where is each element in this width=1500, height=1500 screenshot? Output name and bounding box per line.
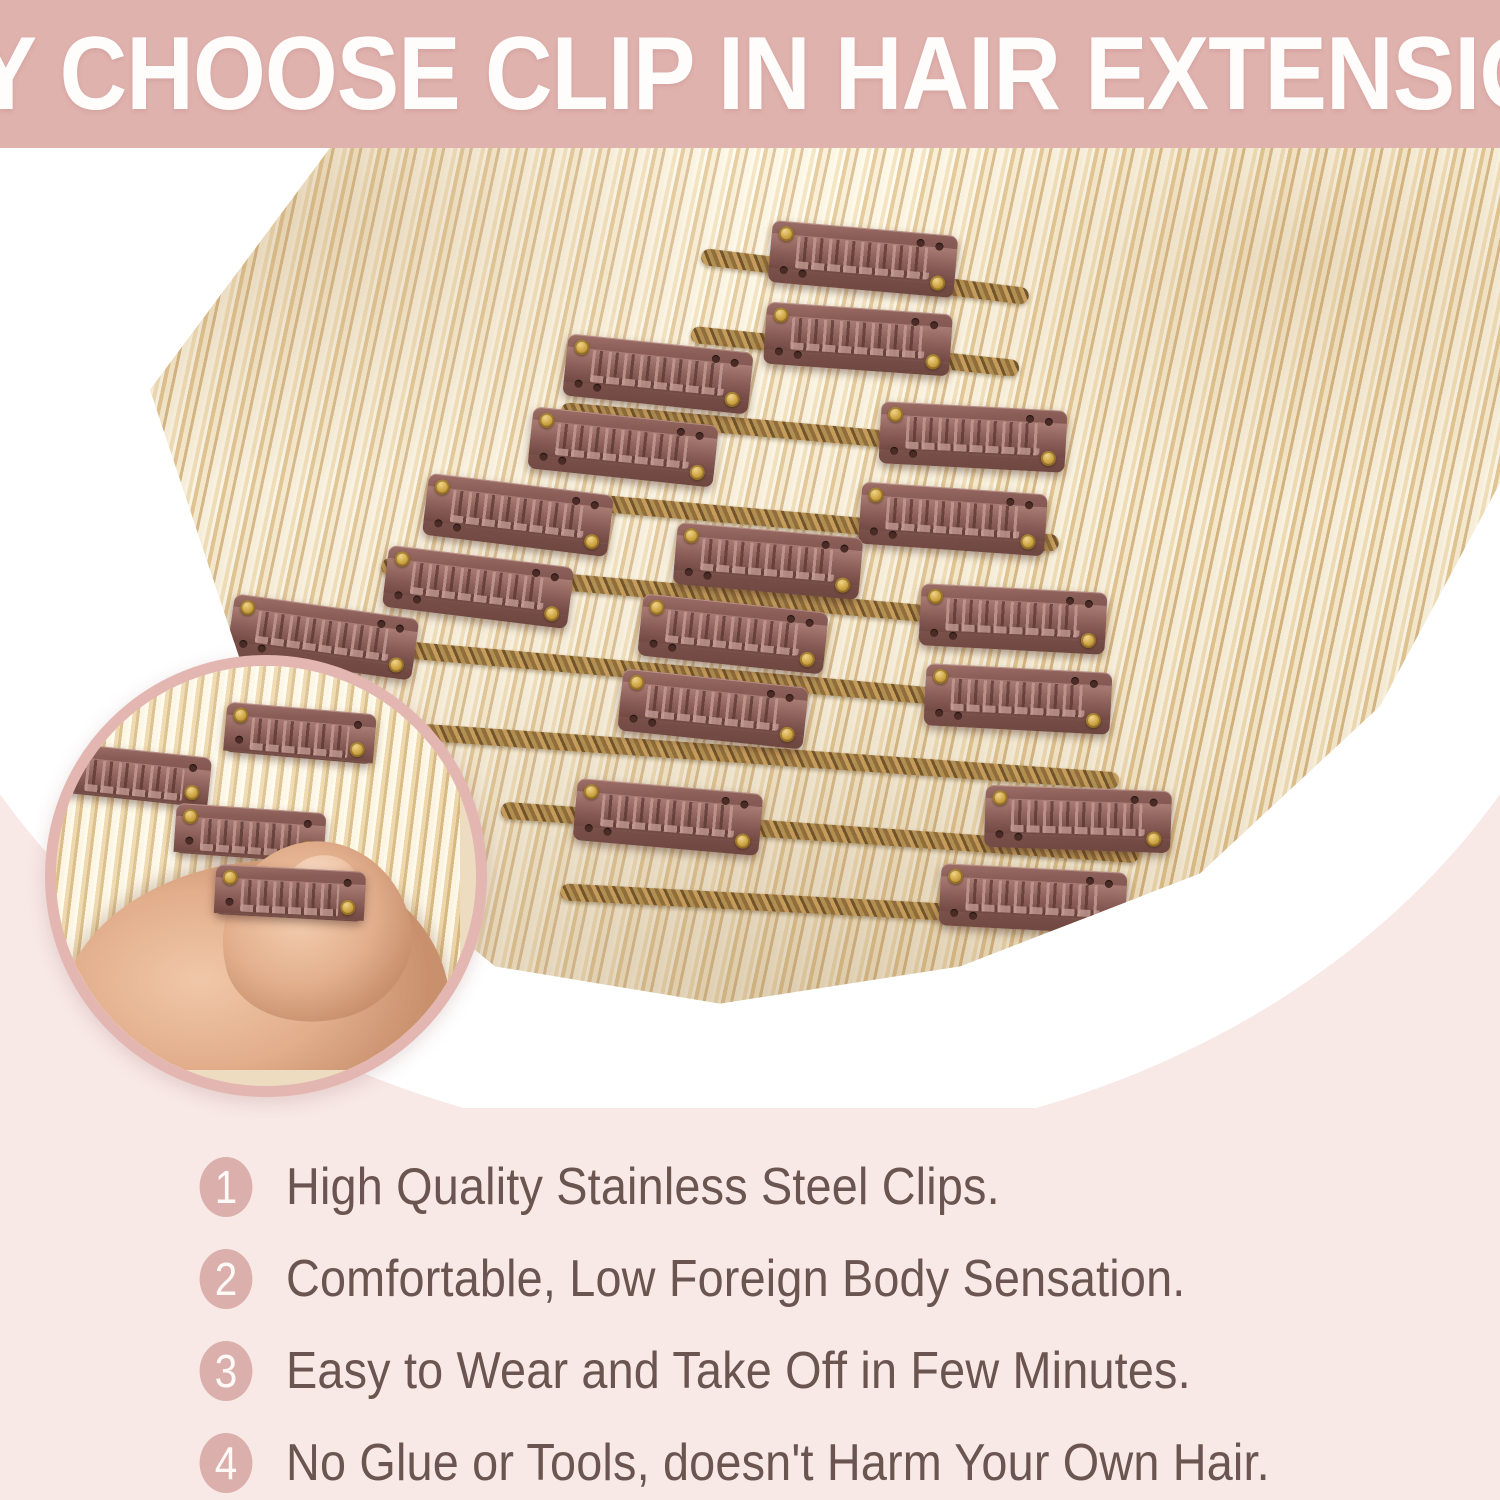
feature-list: 1 High Quality Stainless Steel Clips. 2 … — [0, 1118, 1500, 1500]
feature-number-badge: 2 — [200, 1249, 253, 1309]
page-title: WHY CHOOSE CLIP IN HAIR EXTENSIONS — [75, 0, 1425, 148]
snap-clip — [984, 785, 1172, 853]
feature-text: No Glue or Tools, doesn't Harm Your Own … — [286, 1437, 1270, 1489]
snap-clip — [924, 663, 1113, 735]
feature-item: 3 Easy to Wear and Take Off in Few Minut… — [196, 1334, 1291, 1408]
feature-number-badge: 4 — [200, 1433, 253, 1493]
feature-item: 2 Comfortable, Low Foreign Body Sensatio… — [196, 1242, 1285, 1316]
feature-text: Comfortable, Low Foreign Body Sensation. — [286, 1253, 1185, 1305]
closeup-inset — [45, 655, 487, 1097]
feature-number-badge: 1 — [200, 1157, 253, 1217]
snap-clip — [214, 864, 366, 922]
infographic-page: WHY CHOOSE CLIP IN HAIR EXTENSIONS — [0, 0, 1500, 1500]
feature-text: High Quality Stainless Steel Clips. — [286, 1161, 1000, 1213]
snap-clip — [939, 863, 1128, 935]
snap-clip — [763, 302, 953, 377]
snap-clip — [858, 482, 1048, 557]
feature-text: Easy to Wear and Take Off in Few Minutes… — [286, 1345, 1191, 1397]
header-banner: WHY CHOOSE CLIP IN HAIR EXTENSIONS — [0, 0, 1500, 148]
feature-item: 1 High Quality Stainless Steel Clips. — [196, 1150, 1079, 1224]
snap-clip — [919, 583, 1108, 655]
feature-item: 4 No Glue or Tools, doesn't Harm Your Ow… — [196, 1426, 1379, 1500]
snap-clip — [879, 401, 1068, 473]
inset-photo — [50, 660, 460, 1070]
feature-number-badge: 3 — [200, 1341, 253, 1401]
